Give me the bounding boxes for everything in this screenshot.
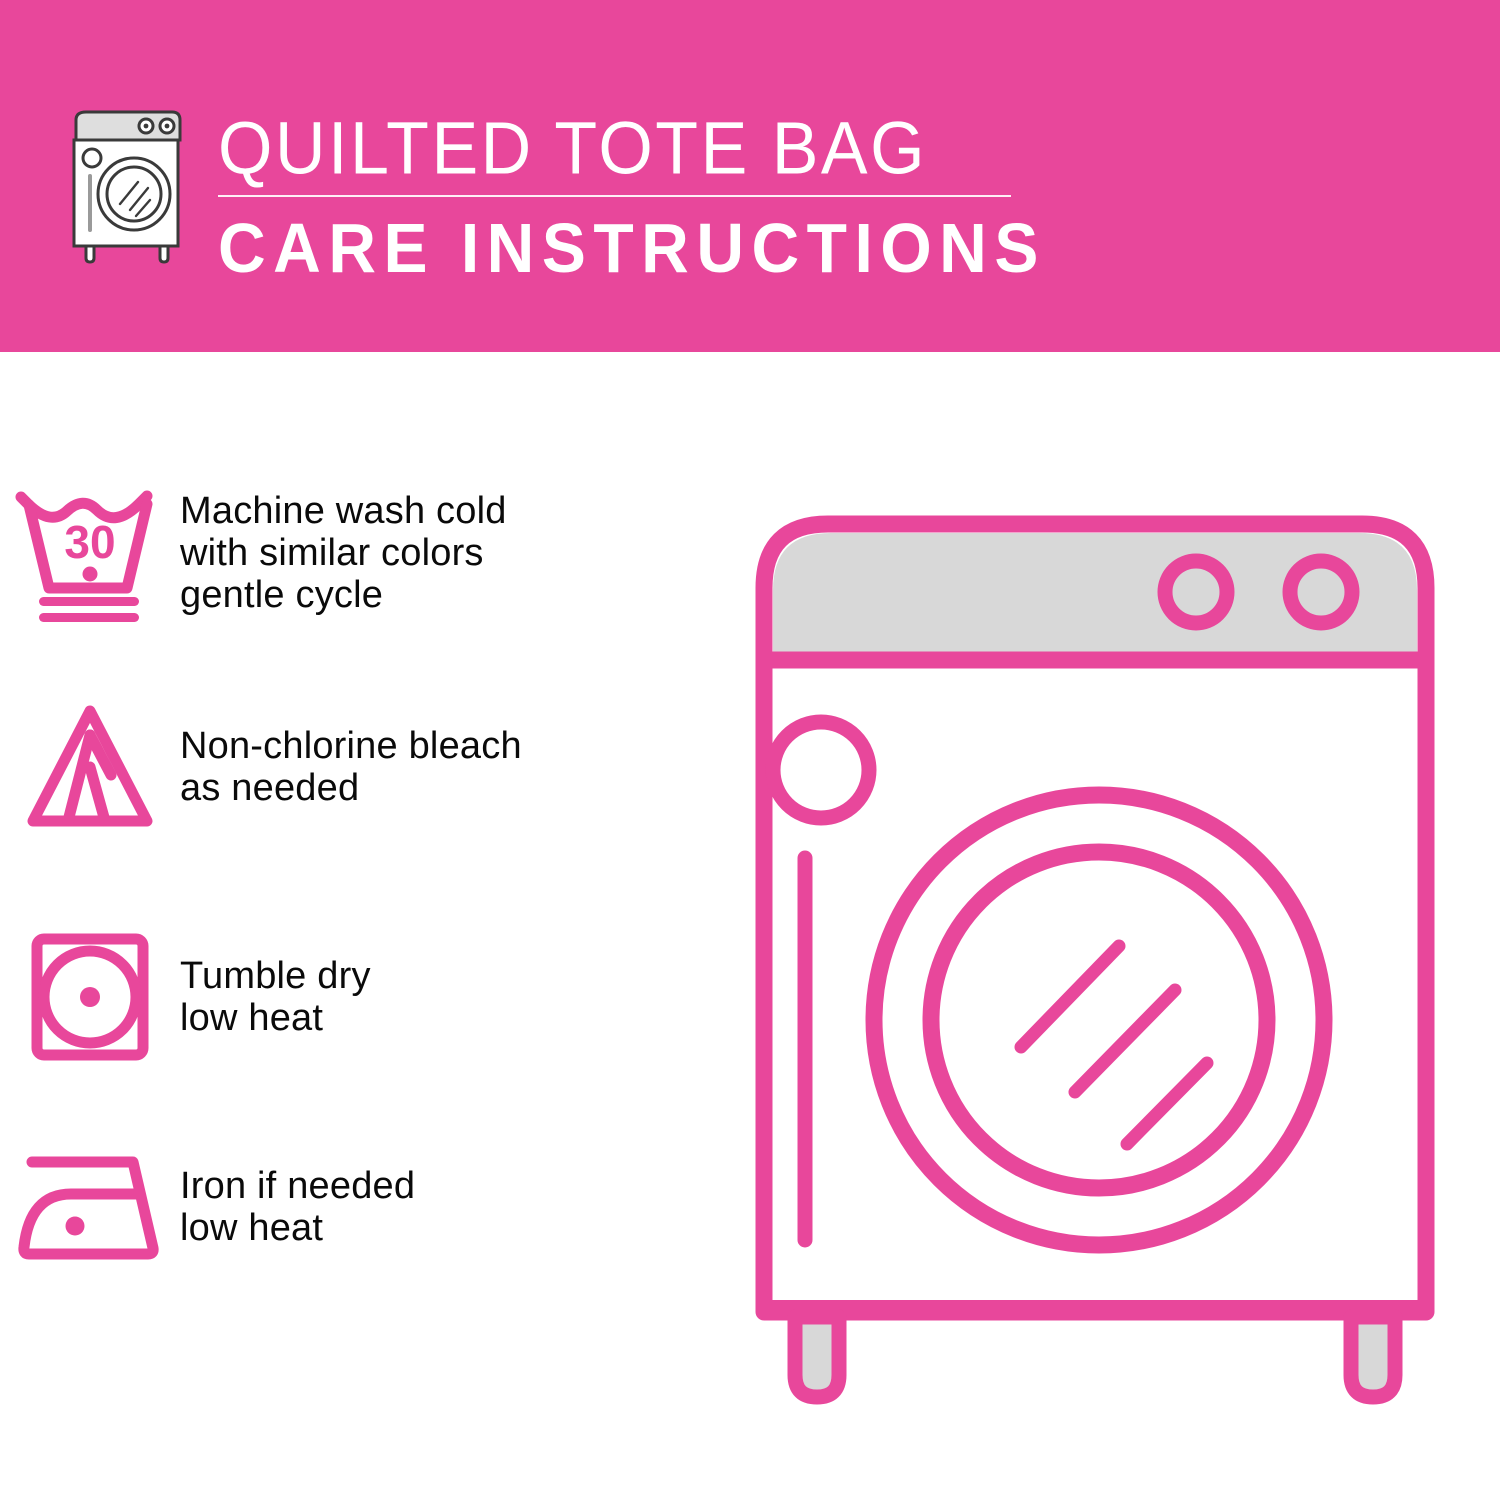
care-text-tumble-dry: Tumble drylow heat <box>180 955 371 1039</box>
page-title: QUILTED TOTE BAG <box>218 108 1018 189</box>
care-text-machine-wash: Machine wash coldwith similar colorsgent… <box>180 490 507 616</box>
care-row-bleach: Non-chlorine bleachas needed <box>0 697 720 837</box>
care-row-machine-wash: 30 Machine wash coldwith similar colorsg… <box>0 478 720 628</box>
page-subtitle: CARE INSTRUCTIONS <box>218 211 1018 285</box>
care-row-iron: Iron if neededlow heat <box>0 1142 720 1272</box>
care-text-bleach: Non-chlorine bleachas needed <box>180 725 522 809</box>
tumble-dry-icon <box>0 922 180 1072</box>
iron-icon <box>0 1142 180 1272</box>
care-instruction-list: 30 Machine wash coldwith similar colorsg… <box>0 352 720 1500</box>
care-instructions-page: QUILTED TOTE BAG CARE INSTRUCTIONS 30 <box>0 0 1500 1500</box>
wash-tub-30-icon: 30 <box>0 478 180 628</box>
care-text-iron: Iron if neededlow heat <box>180 1165 415 1249</box>
washing-machine-illustration <box>735 480 1455 1420</box>
bleach-triangle-icon <box>0 697 180 837</box>
header-banner: QUILTED TOTE BAG CARE INSTRUCTIONS <box>0 0 1500 352</box>
header-divider <box>218 195 1011 197</box>
svg-text:30: 30 <box>64 516 115 568</box>
header-text-block: QUILTED TOTE BAG CARE INSTRUCTIONS <box>218 108 1018 281</box>
washing-machine-icon <box>62 106 192 264</box>
care-row-tumble-dry: Tumble drylow heat <box>0 922 720 1072</box>
